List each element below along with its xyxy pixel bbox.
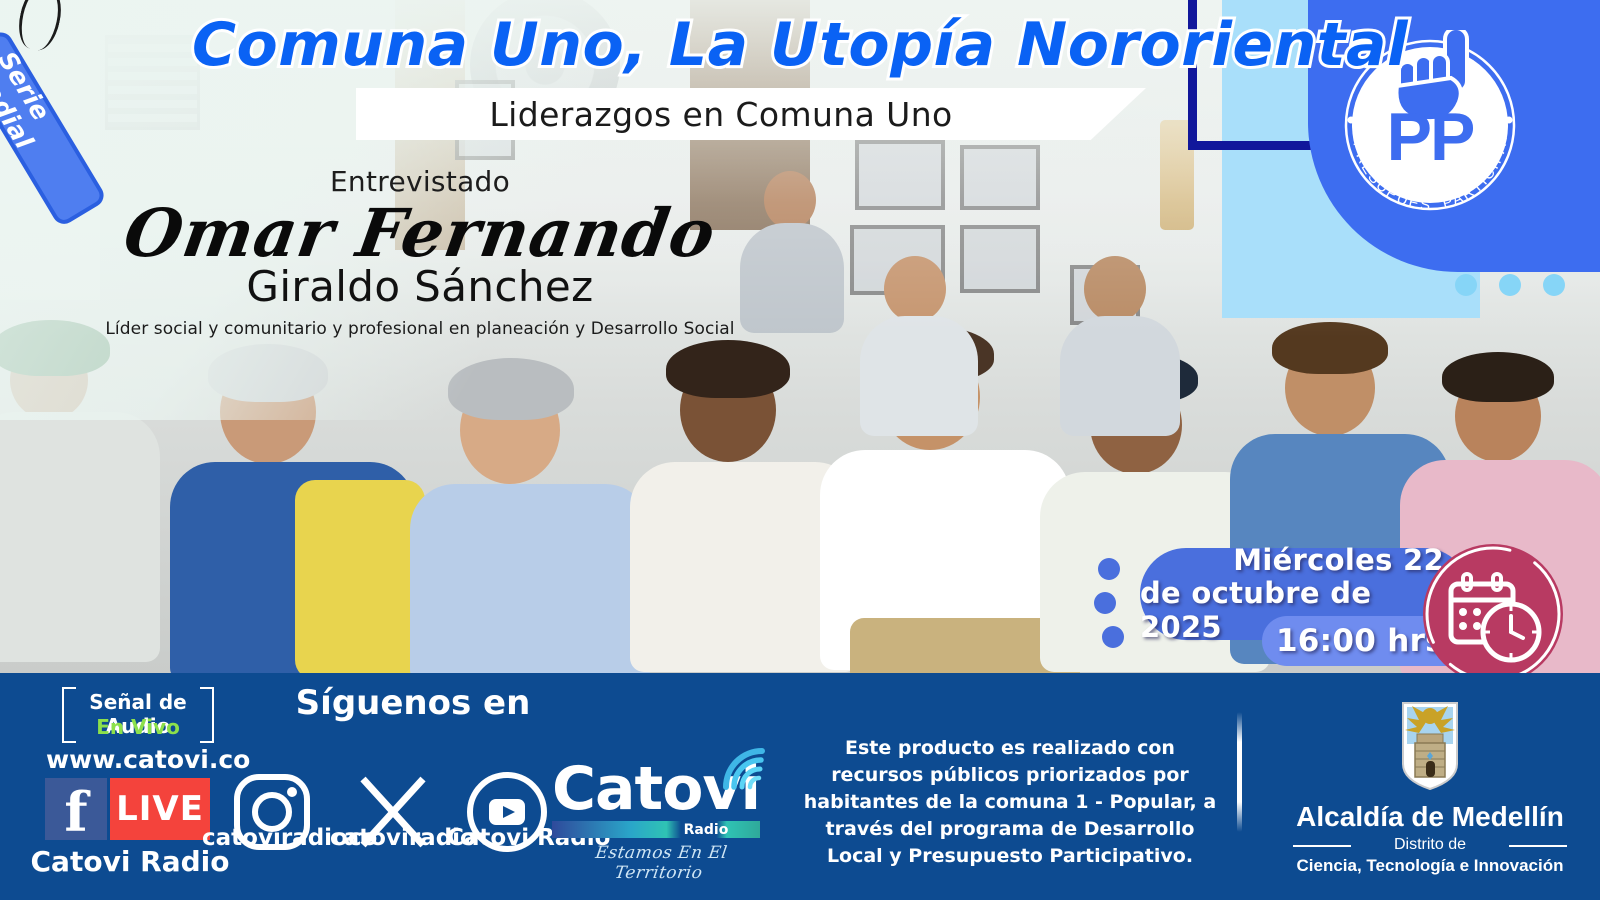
- x-handle: catoviradio: [330, 825, 458, 851]
- decor-dot: [1098, 558, 1120, 580]
- alcaldia-sub2: Ciencia, Tecnología e Innovación: [1285, 856, 1575, 876]
- decor-dot: [1455, 274, 1477, 296]
- wall-frame: [855, 140, 945, 210]
- alcaldia-logo-block: Alcaldía de Medellín Distrito de Ciencia…: [1285, 700, 1575, 876]
- audio-signal-box: Señal de Audio En Vivo: [62, 687, 214, 743]
- decor-dots-row: [1455, 274, 1565, 296]
- alcaldia-name: Alcaldía de Medellín: [1285, 801, 1575, 833]
- website-url[interactable]: www.catovi.co: [46, 745, 234, 774]
- guest-role: Líder social y comunitario y profesional…: [80, 319, 760, 339]
- facebook-handle: Catovi Radio: [30, 845, 230, 878]
- decor-dot: [1499, 274, 1521, 296]
- catovi-radio-badge: Radio: [670, 821, 742, 838]
- footer-divider: [1237, 712, 1242, 832]
- date-decor-dots: [1098, 558, 1124, 660]
- facebook-icon[interactable]: f: [45, 778, 107, 840]
- funding-disclaimer: Este producto es realizado con recursos …: [800, 735, 1220, 870]
- decor-dot: [1102, 626, 1124, 648]
- svg-text:PP: PP: [1387, 99, 1474, 175]
- follow-us-label: Síguenos en: [288, 683, 538, 723]
- catovi-brand-logo: Catovi Radio Estamos En El Territorio: [552, 759, 762, 819]
- wall-frame: [960, 225, 1040, 293]
- subtitle-banner: Liderazgos en Comuna Uno: [356, 88, 1146, 140]
- wifi-signal-icon: [718, 743, 774, 793]
- promo-poster: Serie Radial Comuna Uno, La Utopía Noror…: [0, 0, 1600, 900]
- medellin-coat-of-arms-icon: [1285, 700, 1575, 797]
- guest-first-name: Omar Fernando: [75, 200, 765, 266]
- facebook-live-badge: LIVE: [110, 778, 210, 840]
- wall-frame: [960, 145, 1040, 210]
- decor-dot: [1543, 274, 1565, 296]
- guest-block: Entrevistado Omar Fernando Giraldo Sánch…: [80, 165, 760, 339]
- title-block: Comuna Uno, La Utopía Nororiental: [0, 10, 1600, 80]
- subtitle-text: Liderazgos en Comuna Uno: [489, 95, 1012, 134]
- decor-dot: [1094, 592, 1116, 614]
- alcaldia-sub1: Distrito de: [1285, 836, 1575, 854]
- calendar-clock-icon: [1419, 540, 1567, 688]
- catovi-tagline: Estamos En El Territorio: [555, 843, 765, 883]
- event-date-line1: Miércoles 22: [1233, 544, 1444, 577]
- live-label: LIVE: [116, 789, 204, 829]
- instagram-handle: catoviradioco: [202, 825, 342, 851]
- page-title: Comuna Uno, La Utopía Nororiental: [0, 10, 1600, 80]
- audio-signal-line2: En Vivo: [62, 715, 214, 739]
